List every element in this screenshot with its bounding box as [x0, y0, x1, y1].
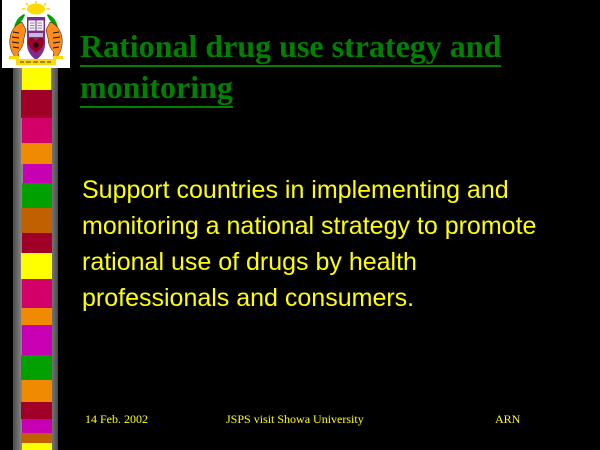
sidebar-color-block — [22, 279, 52, 308]
sidebar-color-block — [23, 164, 52, 183]
slide-title: Rational drug use strategy and monitorin… — [80, 26, 580, 108]
sidebar-color-block — [22, 68, 51, 90]
sidebar-color-block — [21, 308, 52, 325]
sidebar-color-block — [22, 325, 52, 355]
slide-canvas: Rational drug use strategy and monitorin… — [0, 0, 600, 450]
sidebar-color-block — [22, 443, 52, 450]
sidebar-color-block — [21, 143, 52, 164]
slide-body: Support countries in implementing and mo… — [82, 172, 582, 316]
sidebar-color-block — [21, 90, 52, 118]
sidebar-color-block — [21, 433, 52, 443]
slide-body-line-2: monitoring a national strategy to promot… — [82, 208, 582, 244]
slide-footer: 14 Feb. 2002 JSPS visit Showa University… — [0, 412, 600, 430]
coat-of-arms-icon — [2, 0, 70, 68]
slide-body-line-3: rational use of drugs by health — [82, 244, 582, 280]
slide-title-line-2: monitoring — [80, 67, 580, 108]
sidebar-color-block — [21, 355, 52, 380]
footer-event: JSPS visit Showa University — [226, 412, 364, 427]
sidebar-color-block — [22, 118, 52, 143]
footer-author: ARN — [495, 412, 520, 427]
slide-body-line-1: Support countries in implementing and — [82, 172, 582, 208]
sidebar-color-block — [22, 380, 52, 402]
sidebar-color-block — [22, 233, 52, 253]
decorative-sidebar — [0, 0, 72, 450]
slide-body-line-4: professionals and consumers. — [82, 280, 582, 316]
sidebar-color-block — [21, 253, 52, 279]
sidebar-color-block — [21, 208, 52, 233]
footer-date: 14 Feb. 2002 — [85, 412, 148, 427]
slide-title-line-1: Rational drug use strategy and — [80, 26, 580, 67]
sidebar-color-block — [22, 183, 52, 208]
